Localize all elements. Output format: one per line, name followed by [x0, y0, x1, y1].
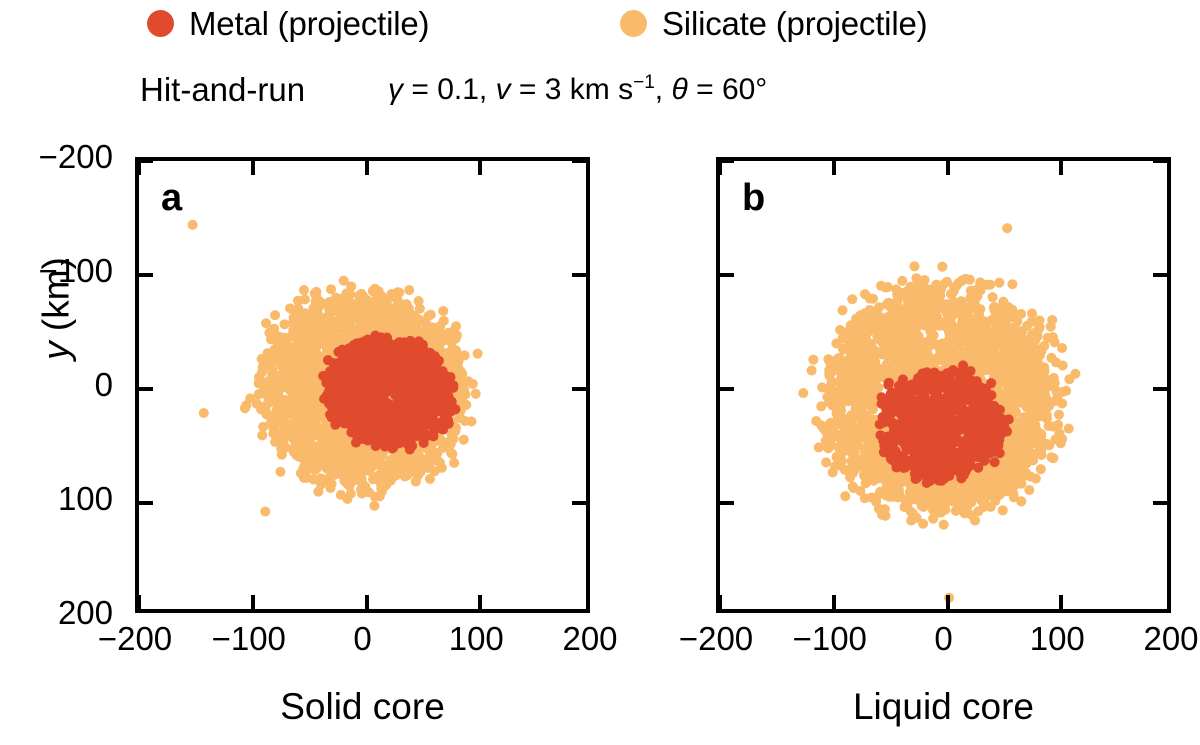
gamma-value: = 0.1, [403, 73, 496, 106]
x-tick [718, 161, 722, 175]
y-tick-label: 200 [0, 593, 113, 633]
circle-marker-icon-metal [147, 10, 174, 37]
x-tick [365, 595, 369, 609]
panel-b-x-axis-label: Liquid core [716, 687, 1171, 727]
circle-marker-icon-silicate [620, 10, 647, 37]
theta-value: = 60° [688, 73, 768, 106]
y-tick-label: −100 [0, 251, 113, 291]
panel-a-plot-area [139, 161, 586, 609]
panel-a-letter: a [161, 179, 182, 217]
y-tick-label: −200 [0, 137, 113, 177]
y-tick [139, 501, 153, 505]
velocity-exponent: −1 [633, 72, 655, 93]
y-tick [720, 387, 734, 391]
y-tick [720, 273, 734, 277]
x-tick [137, 595, 141, 609]
legend-entry-silicate: Silicate (projectile) [620, 0, 927, 46]
x-tick [946, 161, 950, 175]
x-tick-label: 200 [1101, 619, 1200, 659]
x-tick [478, 161, 482, 175]
x-tick [832, 161, 836, 175]
y-tick-label: 100 [0, 479, 113, 519]
y-tick [1153, 501, 1167, 505]
title-parameters: γ = 0.1, v = 3 km s−1, θ = 60° [388, 66, 767, 114]
x-tick [718, 595, 722, 609]
panel-b-plot-area [720, 161, 1167, 609]
legend-entry-metal: Metal (projectile) [147, 0, 429, 46]
x-tick [1059, 161, 1063, 175]
x-tick [832, 595, 836, 609]
theta-separator: , [655, 73, 672, 106]
velocity-value: = 3 km s [511, 73, 634, 106]
y-tick [720, 159, 734, 163]
title-main-text: Hit-and-run [140, 66, 305, 114]
y-tick [572, 273, 586, 277]
figure-title: Hit-and-run γ = 0.1, v = 3 km s−1, θ = 6… [0, 66, 1200, 114]
x-tick-label: 200 [520, 619, 660, 659]
x-tick [251, 161, 255, 175]
y-tick [139, 273, 153, 277]
x-tick [137, 161, 141, 175]
y-tick [139, 159, 153, 163]
x-tick [946, 595, 950, 609]
y-tick [1153, 159, 1167, 163]
theta-symbol: θ [671, 73, 687, 106]
panel-b-axes: b [716, 157, 1171, 613]
y-tick [1153, 387, 1167, 391]
x-tick [1059, 595, 1063, 609]
legend-label-metal: Metal (projectile) [189, 7, 429, 40]
y-tick [139, 387, 153, 391]
figure-root: Metal (projectile) Silicate (projectile)… [0, 0, 1200, 745]
panel-a-axes: a [135, 157, 590, 613]
y-tick [572, 387, 586, 391]
panel-b-letter: b [742, 179, 765, 217]
gamma-symbol: γ [388, 73, 403, 106]
panel-a: a −200−1000100200 2001000−100−200 Solid … [135, 157, 590, 613]
panel-b: b −200−1000100200 Liquid core [716, 157, 1171, 613]
x-tick [478, 595, 482, 609]
panel-a-scatter [139, 161, 586, 609]
y-tick [572, 501, 586, 505]
y-tick [1153, 273, 1167, 277]
y-tick [720, 501, 734, 505]
panel-b-scatter [720, 161, 1167, 609]
legend: Metal (projectile) Silicate (projectile) [0, 0, 1200, 46]
x-tick [365, 161, 369, 175]
velocity-symbol: v [496, 73, 511, 106]
panel-a-x-axis-label: Solid core [135, 687, 590, 727]
legend-label-silicate: Silicate (projectile) [662, 7, 927, 40]
x-tick [251, 595, 255, 609]
y-axis-label-symbol: y [36, 341, 77, 360]
y-tick [572, 159, 586, 163]
y-tick-label: 0 [0, 365, 113, 405]
